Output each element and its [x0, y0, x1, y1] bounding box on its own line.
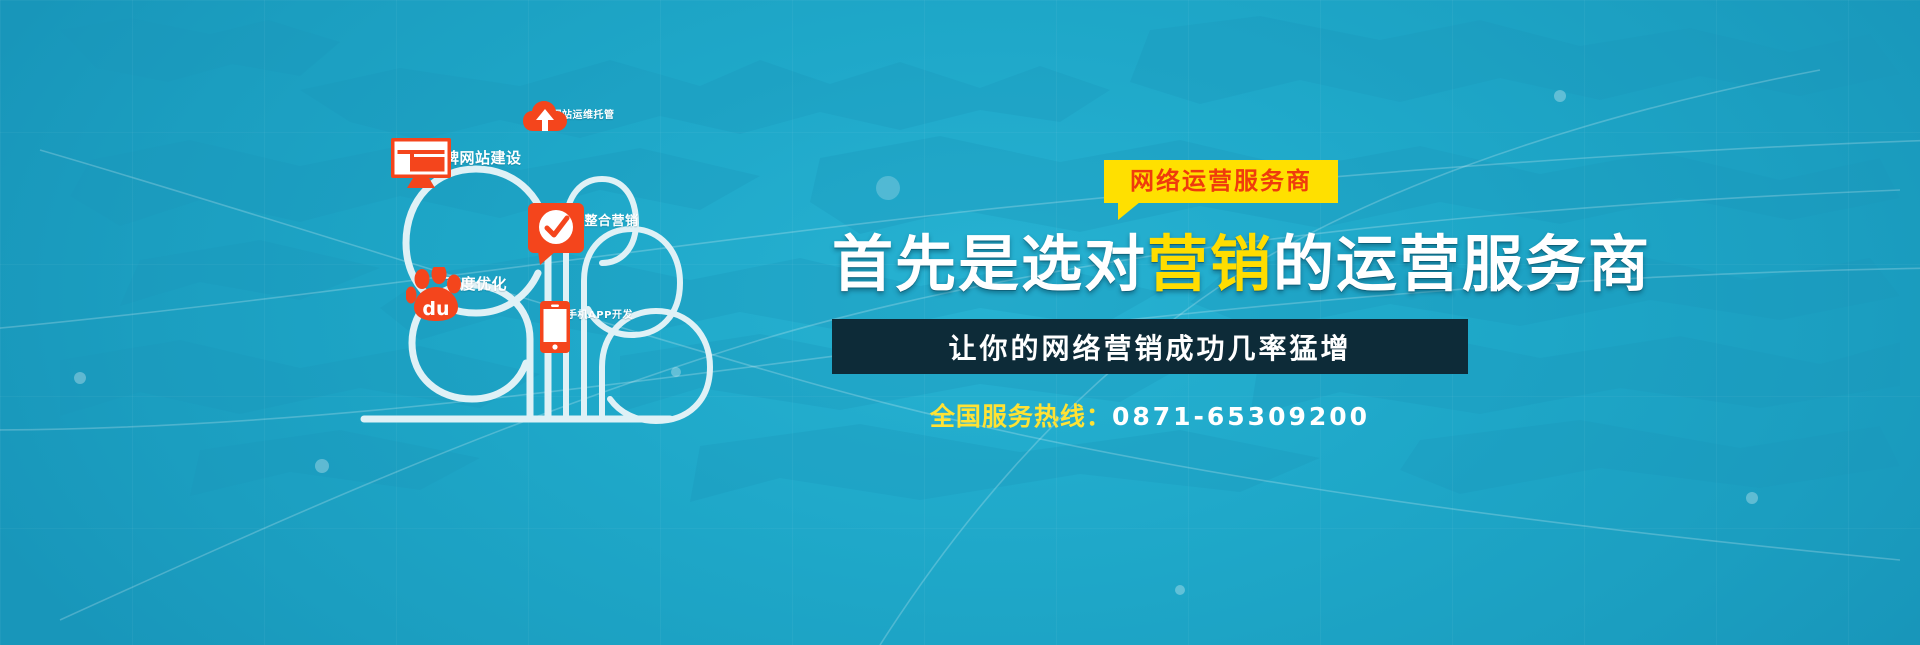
headline-part-after: 的运营服务商 — [1273, 229, 1651, 300]
category-badge-label: 网络运营服务商 — [1130, 167, 1312, 195]
hero-banner: 品牌网站建设 网站运维托管 网络整合营销 — [0, 0, 1920, 645]
baidu-du-text: du — [422, 298, 449, 320]
tree-node-brand-website[interactable]: 品牌网站建设 — [390, 137, 560, 168]
cloud-upload-icon — [523, 101, 567, 133]
tree-node-integrated-marketing[interactable]: 网络整合营销 — [528, 203, 668, 229]
headline-part-before: 首先是选对 — [832, 229, 1147, 300]
headline-highlight: 营销 — [1147, 229, 1273, 300]
hotline-label: 全国服务热线： — [930, 402, 1112, 431]
subtitle-text: 让你的网络营销成功几率猛增 — [948, 327, 1351, 367]
service-tree-illustration: 品牌网站建设 网站运维托管 网络整合营销 — [330, 95, 750, 435]
banner-content: 网络运营服务商 首先是选对营销的运营服务商 让你的网络营销成功几率猛增 全国服务… — [832, 160, 1532, 433]
hotline-number[interactable]: 0871-65309200 — [1112, 402, 1370, 431]
smartphone-icon — [540, 301, 570, 353]
subtitle-bar: 让你的网络营销成功几率猛增 — [832, 319, 1468, 374]
page-title: 首先是选对营销的运营服务商 — [832, 234, 1532, 295]
monitor-icon — [390, 137, 452, 189]
category-badge: 网络运营服务商 — [1104, 160, 1338, 203]
tree-node-mobile-app[interactable]: 手机APP开发 — [540, 301, 660, 321]
check-bubble-icon — [528, 203, 584, 265]
hotline[interactable]: 全国服务热线：0871-65309200 — [832, 397, 1468, 433]
baidu-paw-icon: du — [406, 267, 466, 323]
tree-node-baidu-optimization[interactable]: du 百度优化 — [406, 267, 546, 294]
tree-node-website-ops[interactable]: 网站运维托管 — [523, 101, 643, 121]
badge-tail — [1118, 202, 1140, 220]
